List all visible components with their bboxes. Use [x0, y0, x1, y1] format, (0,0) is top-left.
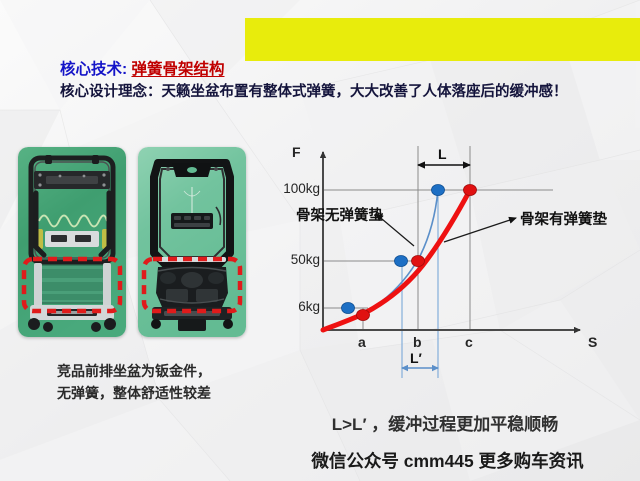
x-tick-c: c: [465, 334, 473, 350]
photo-caption-line-1: 竞品前排坐盆为钣金件，: [14, 360, 254, 382]
force-displacement-chart: F S 100kg 50kg 6kg a b c 骨架无弹簧垫 骨架有弹簧垫 L…: [268, 138, 640, 393]
core-technology-prefix: 核心技术:: [60, 61, 131, 78]
wechat-watermark: 微信公众号 cmm445 更多购车资讯: [255, 448, 640, 473]
chart-svg: [268, 138, 640, 393]
x-tick-b: b: [413, 334, 422, 350]
y-tick-100kg: 100kg: [262, 181, 320, 196]
x-tick-a: a: [358, 334, 366, 350]
y-tick-6kg: 6kg: [262, 299, 320, 314]
dimension-label-Lprime: L′: [410, 350, 422, 366]
core-technology-emphasis: 弹簧骨架结构: [131, 61, 224, 78]
core-concept-line: 核心设计理念：天籁坐盆布置有整体式弹簧，大大改善了人体落座后的缓冲感！: [60, 82, 635, 103]
teana-seat-photo: [138, 147, 246, 337]
y-axis-label: F: [292, 144, 301, 160]
photo-caption-line-2: 无弹簧，整体舒适性较差: [14, 382, 254, 404]
x-axis-label: S: [588, 334, 597, 350]
photo-caption: 竞品前排坐盆为钣金件， 无弹簧，整体舒适性较差: [14, 360, 254, 404]
series-label-no-spring: 骨架无弹簧垫: [296, 204, 383, 225]
competitor-seat-photo: [18, 147, 126, 337]
core-technology-line: 核心技术: 弹簧骨架结构: [60, 60, 635, 80]
y-tick-50kg: 50kg: [262, 252, 320, 267]
conclusion-text: L>L′ ，缓冲过程更加平稳顺畅: [255, 410, 635, 435]
dimension-label-L: L: [438, 146, 447, 162]
heading-block: 核心技术: 弹簧骨架结构 核心设计理念：天籁坐盆布置有整体式弹簧，大大改善了人体…: [60, 60, 635, 103]
series-label-with-spring: 骨架有弹簧垫: [520, 208, 607, 229]
chart-axes: [323, 152, 580, 330]
yellow-title-banner: [245, 18, 640, 61]
